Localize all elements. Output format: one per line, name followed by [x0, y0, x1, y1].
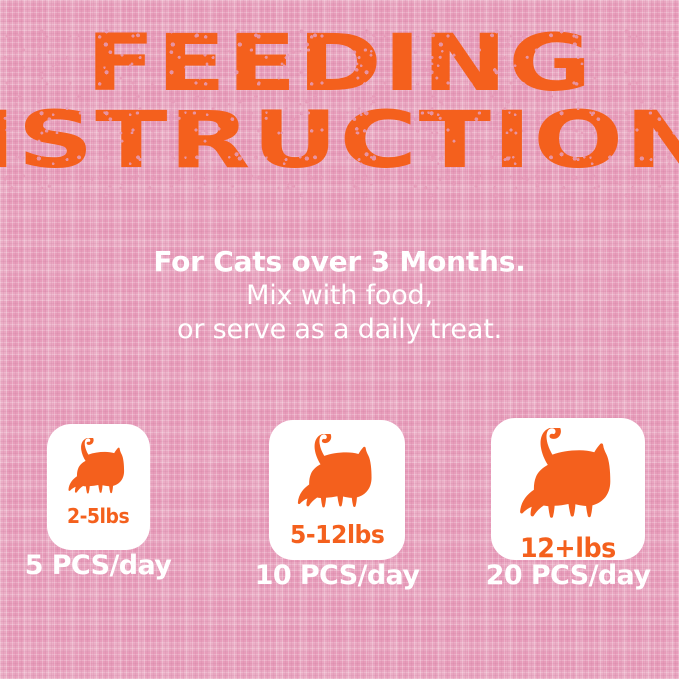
feeding-instructions-poster: FEEDING INSTRUCTIONS For Cats over 3 Mon… [0, 0, 679, 679]
dosage-card-medium: 5-12lbs 10 PCS/day [253, 418, 421, 591]
weight-range-label: 12+lbs [520, 533, 616, 564]
dosage-card-small: 2-5lbs 5 PCS/day [24, 418, 172, 581]
subtitle-block: For Cats over 3 Months. Mix with food, o… [0, 245, 679, 347]
subtitle-line-3: or serve as a daily treat. [0, 313, 679, 347]
subtitle-line-1: For Cats over 3 Months. [0, 245, 679, 279]
cat-silhouette-icon [61, 438, 135, 500]
weight-range-label: 2-5lbs [67, 504, 129, 528]
dosage-card-row: 2-5lbs 5 PCS/day 5-12lbs 10 PCS/day [0, 418, 679, 618]
headline-line-1: FEEDING [0, 28, 679, 101]
per-day-label: 5 PCS/day [25, 550, 172, 581]
weight-range-label: 5-12lbs [290, 520, 384, 549]
weight-card: 2-5lbs [47, 424, 150, 550]
dosage-card-large: 12+lbs 20 PCS/day [470, 418, 666, 591]
weight-card: 12+lbs [491, 418, 645, 560]
per-day-label: 10 PCS/day [255, 560, 420, 591]
headline-line-2: INSTRUCTIONS [0, 105, 679, 178]
cat-silhouette-icon [508, 428, 628, 528]
page-title: FEEDING INSTRUCTIONS [0, 28, 679, 177]
per-day-label: 20 PCS/day [486, 560, 651, 591]
weight-card: 5-12lbs [269, 420, 405, 560]
subtitle-line-2: Mix with food, [0, 279, 679, 313]
cat-silhouette-icon [288, 434, 386, 516]
